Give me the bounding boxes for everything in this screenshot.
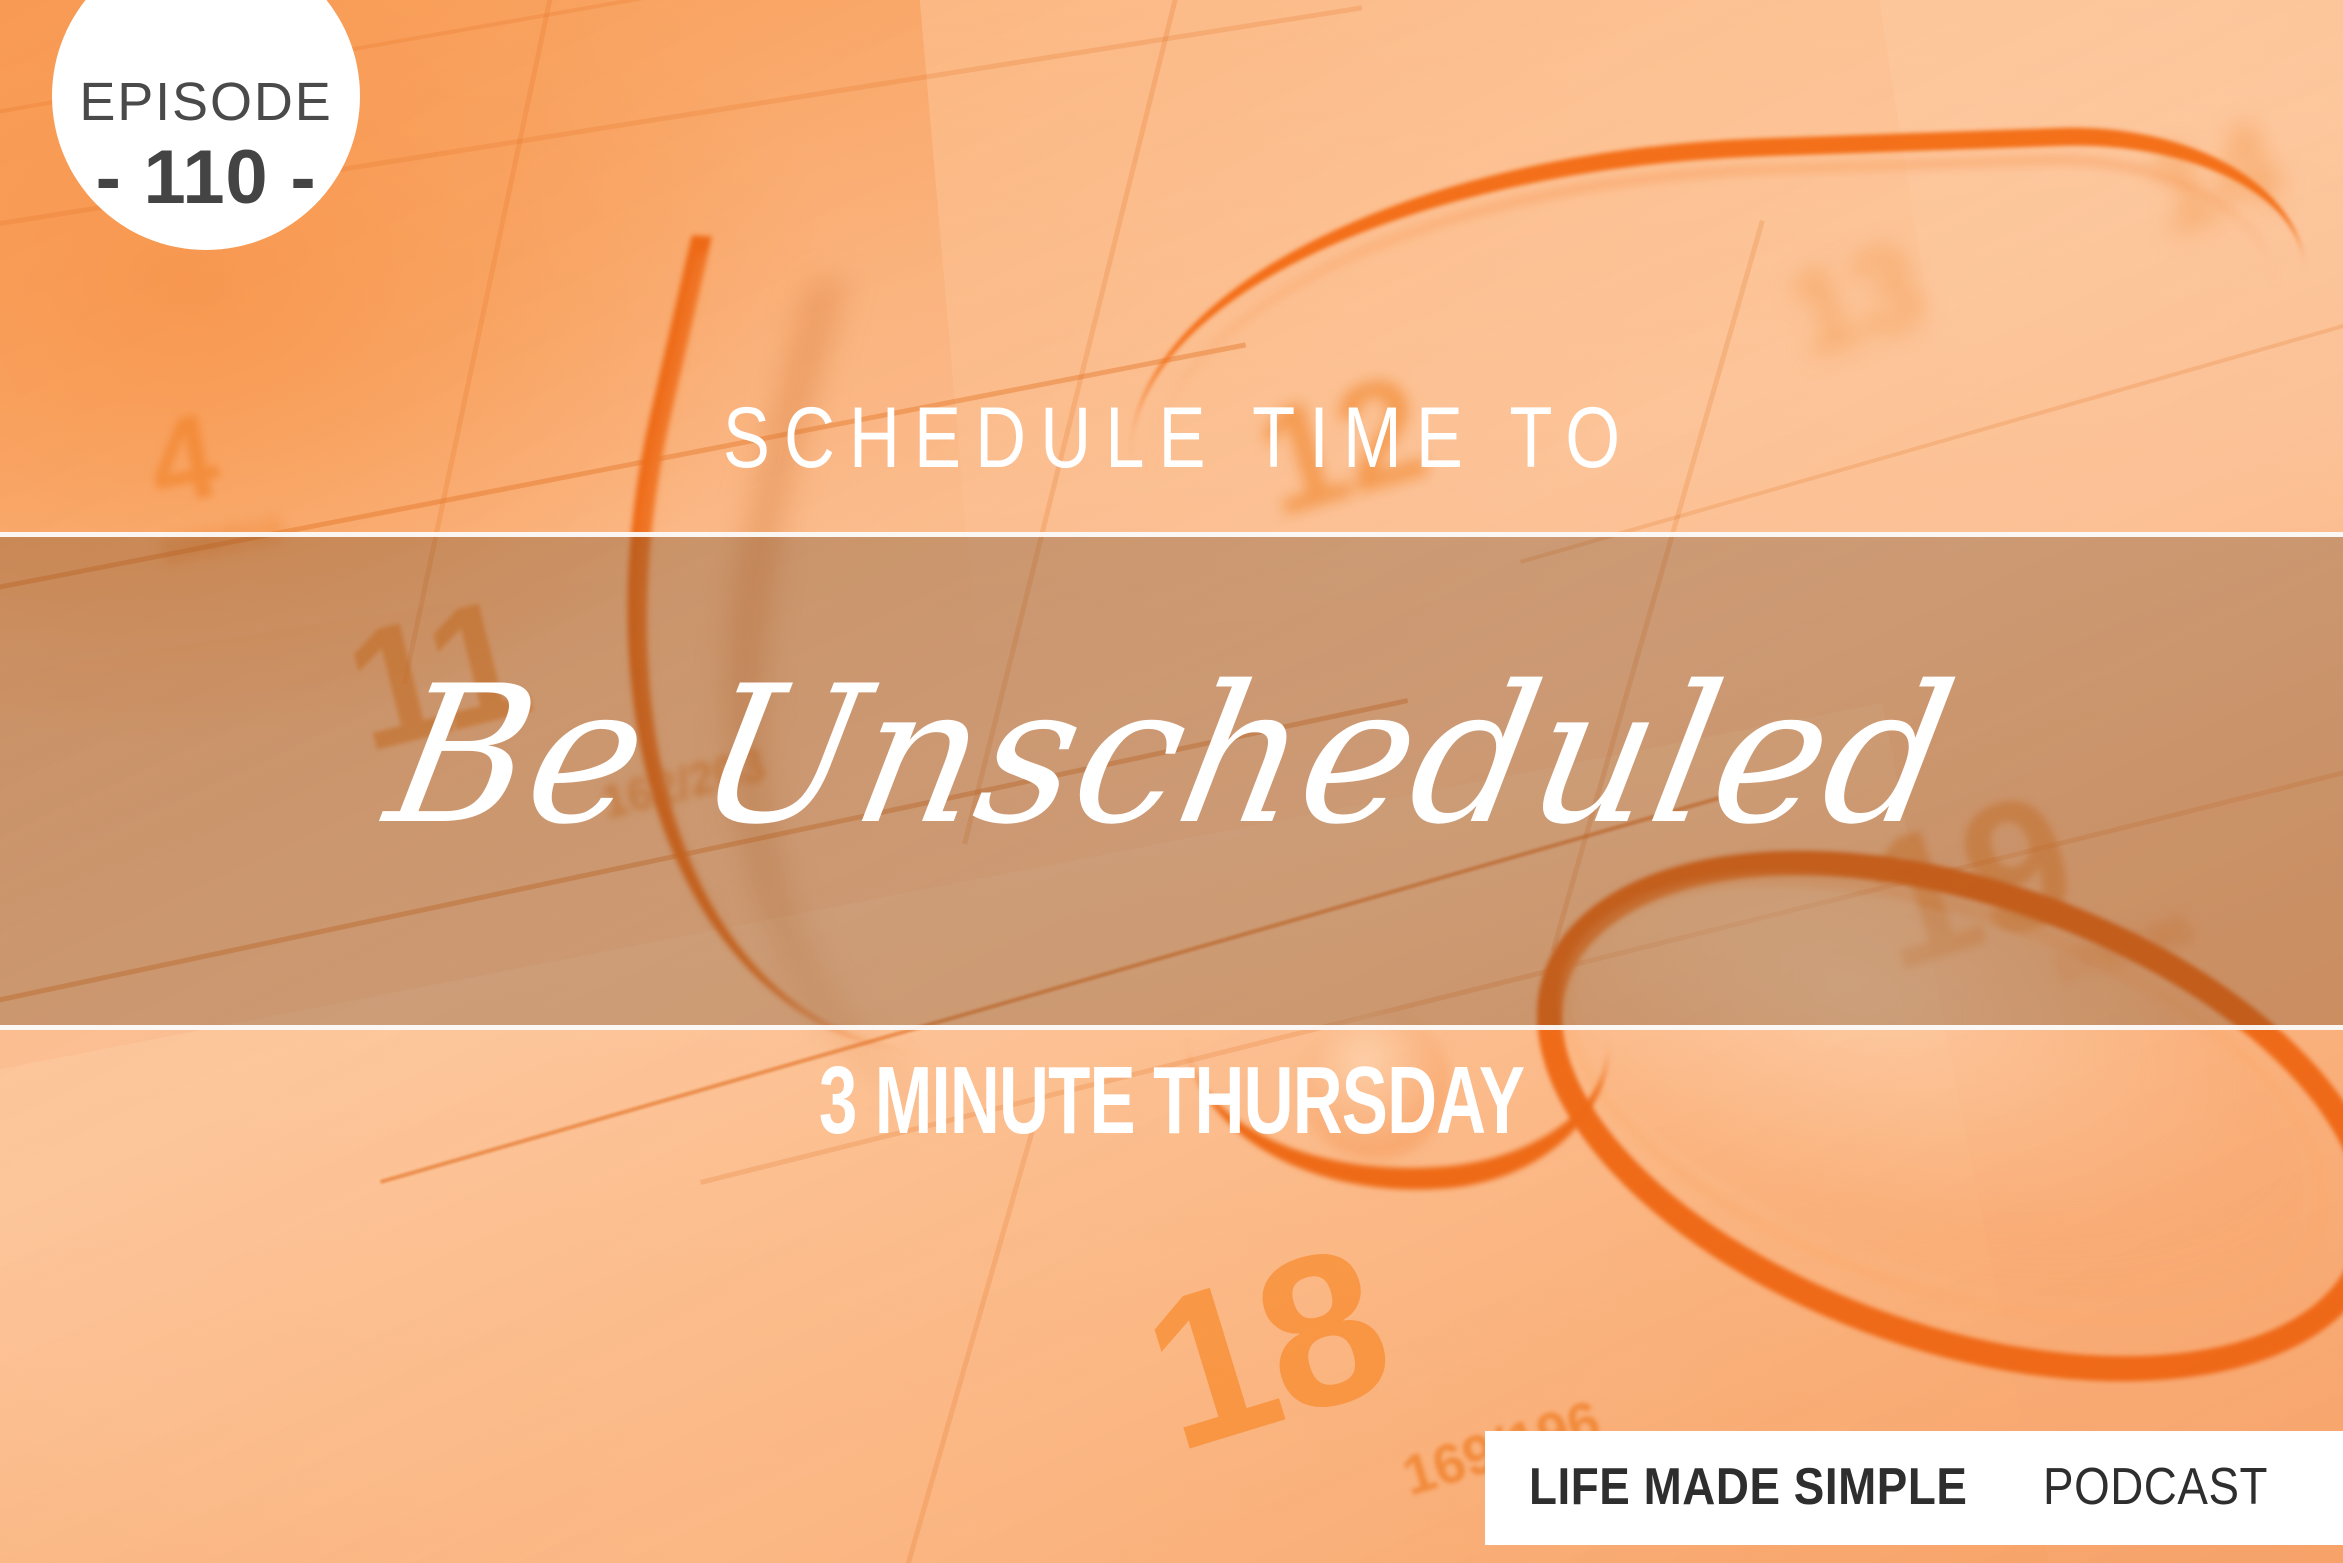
episode-number: - 110 -	[96, 135, 317, 220]
title-script: Be Unscheduled	[4, 655, 2339, 856]
podcast-cover-art: 4 155/210 11 162/203 12 13 14 18 169/196…	[0, 0, 2343, 1563]
episode-badge: EPISODE - 110 -	[52, 0, 360, 250]
episode-label: EPISODE	[79, 75, 332, 129]
podcast-suffix-label: PODCAST	[2043, 1457, 2268, 1517]
title-kicker: SCHEDULE TIME TO	[211, 395, 2132, 481]
podcast-logo-plate: LIFE MADE SIMPLE PODCAST	[1485, 1431, 2343, 1545]
podcast-brand-name: LIFE MADE SIMPLE	[1529, 1457, 1967, 1517]
title-subline: 3 MINUTE THURSDAY	[328, 1053, 2015, 1149]
